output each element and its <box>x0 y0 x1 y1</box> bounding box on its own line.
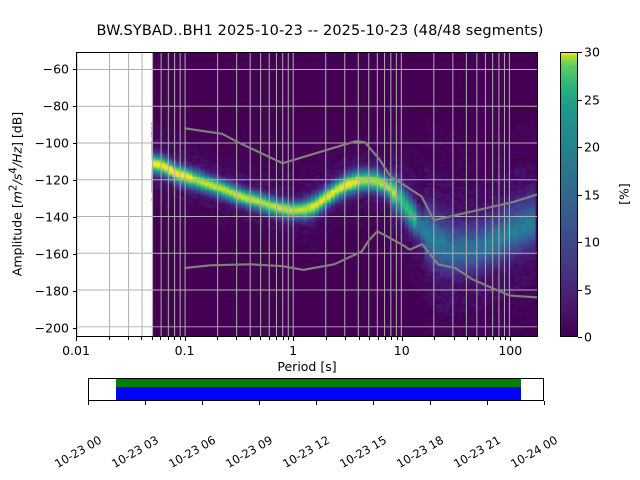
ppsd-plot-area <box>76 52 538 337</box>
coverage-tick-label: 10-23 12 <box>280 433 332 471</box>
x-tick-mark <box>160 337 161 340</box>
colorbar-tick-mark <box>578 195 582 196</box>
y-axis-label: Amplitude [m2/s4/Hz] [dB] <box>7 112 24 276</box>
y-tick-label: −80 <box>43 98 69 113</box>
x-tick-mark <box>260 337 261 340</box>
y-tick-label: −160 <box>35 246 69 261</box>
coverage-tick-mark <box>145 401 146 405</box>
x-tick-mark <box>345 337 346 340</box>
x-tick-label: 1 <box>289 343 297 358</box>
page-title: BW.SYBAD..BH1 2025-10-23 -- 2025-10-23 (… <box>97 23 544 39</box>
coverage-tick-mark <box>88 401 89 405</box>
coverage-tick-label: 10-23 18 <box>394 433 446 471</box>
y-tick-mark <box>73 291 77 292</box>
noise-model-curves <box>77 53 537 336</box>
x-tick-mark <box>293 337 294 341</box>
x-tick-mark <box>478 337 479 340</box>
x-tick-mark <box>217 337 218 340</box>
x-tick-mark <box>510 337 511 341</box>
x-tick-mark <box>174 337 175 340</box>
ppsd-figure: BW.SYBAD..BH1 2025-10-23 -- 2025-10-23 (… <box>0 0 640 480</box>
coverage-tick-label: 10-23 06 <box>166 433 218 471</box>
x-tick-mark <box>269 337 270 340</box>
coverage-tick-mark <box>259 401 260 405</box>
x-tick-mark <box>397 337 398 340</box>
x-tick-label: 10 <box>394 343 410 358</box>
x-tick-mark <box>434 337 435 340</box>
colorbar-tick-mark <box>578 100 582 101</box>
coverage-tick-label: 10-24 00 <box>508 433 560 471</box>
x-tick-mark <box>185 337 186 341</box>
coverage-tick-mark <box>373 401 374 405</box>
colorbar-tick-label: 20 <box>584 140 600 155</box>
y-tick-mark <box>73 106 77 107</box>
x-tick-mark <box>141 337 142 340</box>
colorbar-tick-label: 15 <box>584 187 600 202</box>
colorbar-tick-mark <box>578 147 582 148</box>
coverage-tick-label: 10-23 09 <box>223 433 275 471</box>
coverage-tick-label: 10-23 00 <box>52 433 104 471</box>
x-tick-mark <box>76 337 77 341</box>
coverage-tick-mark <box>316 401 317 405</box>
x-tick-mark <box>276 337 277 340</box>
x-tick-mark <box>454 337 455 340</box>
data-coverage-plot <box>88 378 544 401</box>
y-tick-mark <box>73 254 77 255</box>
y-tick-label: −60 <box>43 61 69 76</box>
x-tick-mark <box>378 337 379 340</box>
y-tick-mark <box>73 69 77 70</box>
coverage-tick-label: 10-23 03 <box>109 433 161 471</box>
y-tick-mark <box>73 328 77 329</box>
colorbar-tick-mark <box>578 242 582 243</box>
x-tick-mark <box>486 337 487 340</box>
x-tick-mark <box>283 337 284 340</box>
coverage-tick-mark <box>202 401 203 405</box>
coverage-tick-label: 10-23 21 <box>451 433 503 471</box>
y-tick-label: −100 <box>35 135 69 150</box>
x-tick-label: 0.01 <box>62 343 90 358</box>
coverage-data-bar <box>116 387 521 400</box>
x-tick-mark <box>168 337 169 340</box>
y-tick-mark <box>73 180 77 181</box>
x-tick-mark <box>402 337 403 341</box>
coverage-tick-mark <box>430 401 431 405</box>
x-tick-mark <box>152 337 153 340</box>
colorbar-tick-label: 30 <box>584 45 600 60</box>
y-tick-mark <box>73 143 77 144</box>
coverage-times-bar <box>116 379 521 387</box>
colorbar-tick-label: 10 <box>584 235 600 250</box>
x-tick-mark <box>359 337 360 340</box>
x-tick-mark <box>493 337 494 340</box>
colorbar-tick-label: 5 <box>584 282 592 297</box>
plot-clip <box>77 53 537 336</box>
x-axis-label: Period [s] <box>277 359 336 374</box>
coverage-tick-label: 10-23 15 <box>337 433 389 471</box>
x-tick-mark <box>467 337 468 340</box>
colorbar-tick-mark <box>578 337 582 338</box>
x-tick-mark <box>288 337 289 340</box>
x-tick-mark <box>505 337 506 340</box>
x-tick-mark <box>369 337 370 340</box>
y-tick-label: −120 <box>35 172 69 187</box>
y-tick-label: −140 <box>35 209 69 224</box>
x-tick-mark <box>128 337 129 340</box>
colorbar-tick-mark <box>578 52 582 53</box>
colorbar-tick-label: 0 <box>584 330 592 345</box>
x-tick-mark <box>236 337 237 340</box>
x-tick-mark <box>391 337 392 340</box>
colorbar-label: [%] <box>617 183 632 205</box>
y-tick-mark <box>73 217 77 218</box>
x-tick-label: 100 <box>498 343 522 358</box>
y-tick-label: −180 <box>35 283 69 298</box>
x-tick-mark <box>385 337 386 340</box>
x-tick-mark <box>109 337 110 340</box>
x-tick-label: 0.1 <box>175 343 195 358</box>
colorbar <box>560 52 578 337</box>
x-tick-mark <box>180 337 181 340</box>
x-tick-mark <box>326 337 327 340</box>
y-tick-label: −200 <box>35 320 69 335</box>
x-tick-mark <box>250 337 251 340</box>
colorbar-tick-label: 25 <box>584 92 600 107</box>
coverage-tick-mark <box>487 401 488 405</box>
coverage-tick-mark <box>544 401 545 405</box>
x-tick-mark <box>500 337 501 340</box>
colorbar-tick-mark <box>578 290 582 291</box>
coverage-clip <box>89 379 543 400</box>
